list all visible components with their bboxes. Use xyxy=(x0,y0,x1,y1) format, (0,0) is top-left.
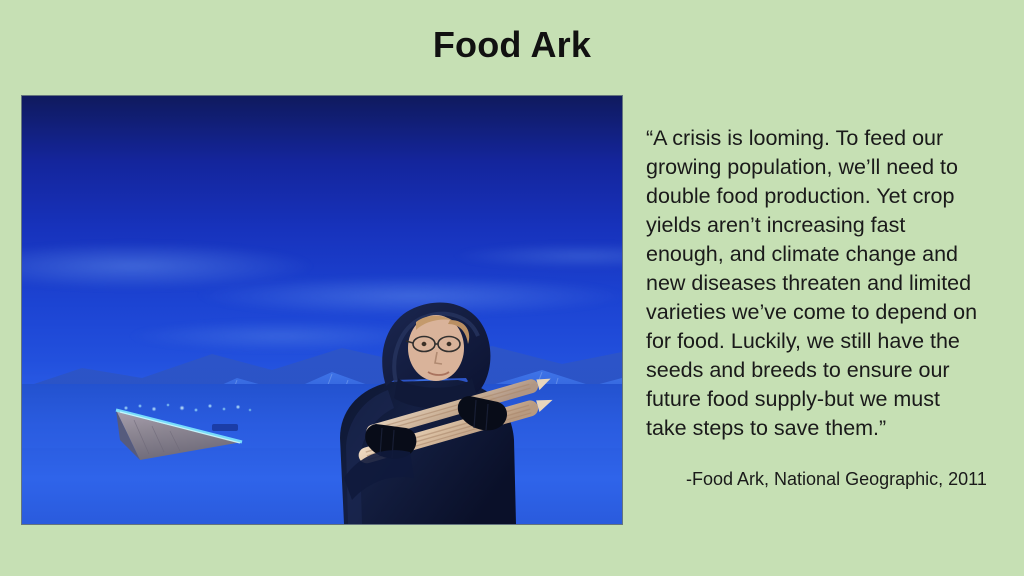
quote-line: growing population, we’ll need to xyxy=(646,153,998,182)
quote-line: new diseases threaten and limited xyxy=(646,269,998,298)
quote-attribution: -Food Ark, National Geographic, 2011 xyxy=(686,467,987,491)
quote-line: seeds and breeds to ensure our xyxy=(646,356,998,385)
quote-line: yields aren’t increasing fast xyxy=(646,211,998,240)
seed-vault-structure-icon xyxy=(94,396,294,486)
quote-text: “A crisis is looming. To feed our growin… xyxy=(646,124,998,443)
page-title: Food Ark xyxy=(0,25,1024,65)
seed-vault-photo xyxy=(22,96,622,524)
quote-line: for food. Luckily, we still have the xyxy=(646,327,998,356)
quote-line: varieties we’ve come to depend on xyxy=(646,298,998,327)
person-holding-maize-icon xyxy=(290,278,590,524)
quote-line: double food production. Yet crop xyxy=(646,182,998,211)
quote-line: future food supply-but we must xyxy=(646,385,998,414)
quote-line: enough, and climate change and xyxy=(646,240,998,269)
quote-line: “A crisis is looming. To feed our xyxy=(646,124,998,153)
quote-line: take steps to save them.” xyxy=(646,414,998,443)
